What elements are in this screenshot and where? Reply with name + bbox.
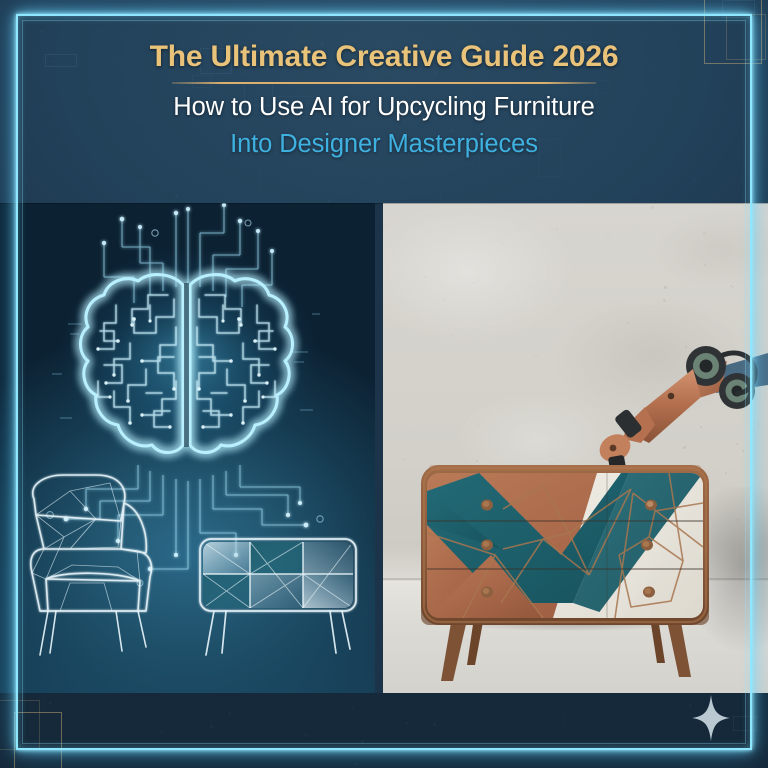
image-band-top-edge — [0, 203, 768, 204]
wireframe-sideboard — [200, 539, 356, 655]
upcycled-dresser — [383, 203, 768, 693]
ai-brain-graphic — [70, 261, 306, 476]
panel-divider — [375, 203, 383, 693]
image-band — [0, 203, 768, 693]
left-panel-ai-illustration — [0, 203, 375, 693]
subtitle-line-1: How to Use AI for Upcycling Furniture — [173, 93, 594, 122]
page-title: The Ultimate Creative Guide 2026 — [150, 40, 619, 74]
wireframe-furniture — [0, 461, 375, 671]
dresser-painted-face — [427, 473, 703, 618]
title-underline-rule — [172, 82, 596, 84]
subtitle-line-2: Into Designer Masterpieces — [230, 130, 538, 159]
wireframe-armchair — [31, 475, 152, 611]
header-text-block: The Ultimate Creative Guide 2026 How to … — [0, 0, 768, 203]
poster-canvas: The Ultimate Creative Guide 2026 How to … — [0, 0, 768, 768]
four-point-star-icon — [692, 695, 730, 746]
right-panel-dresser-photo — [383, 203, 768, 693]
